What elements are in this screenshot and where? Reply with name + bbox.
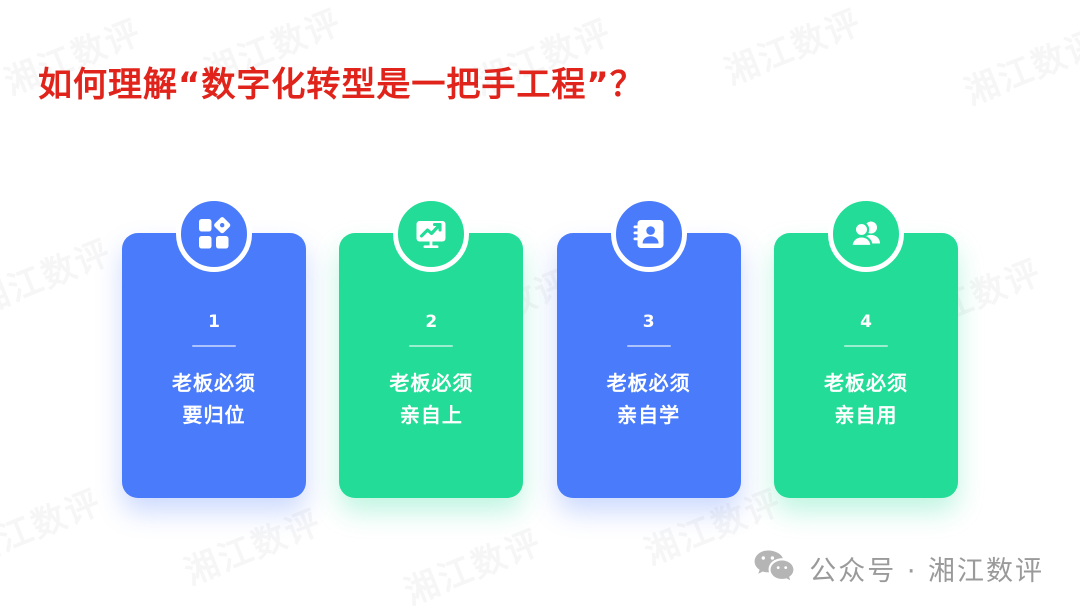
card-text-line1: 老板必须: [122, 367, 306, 399]
slide: 湘江数评 湘江数评 湘江数评 湘江数评 湘江数评 湘江数评 湘江数评 湘江数评 …: [0, 0, 1080, 608]
card-body: 3 老板必须 亲自学: [557, 314, 741, 432]
watermark-text: 湘江数评: [956, 15, 1080, 114]
card-divider: [627, 345, 671, 347]
card-4[interactable]: 4 老板必须 亲自用: [774, 196, 958, 498]
card-body: 1 老板必须 要归位: [122, 314, 306, 432]
card-body: 4 老板必须 亲自用: [774, 314, 958, 432]
monitor-chart-icon: [393, 196, 469, 272]
card-number: 3: [557, 314, 741, 331]
watermark-text: 湘江数评: [396, 515, 548, 608]
card-text-line2: 亲自学: [557, 399, 741, 431]
card-divider: [844, 345, 888, 347]
grid-diamond-icon: [176, 196, 252, 272]
footer: 公众号 · 湘江数评: [753, 548, 1044, 588]
users-group-icon: [828, 196, 904, 272]
cards-row: 1 老板必须 要归位 2: [122, 196, 958, 498]
wechat-icon: [753, 548, 795, 588]
card-number: 2: [339, 314, 523, 331]
card-text: 老板必须 亲自学: [557, 367, 741, 432]
watermark-text: 湘江数评: [0, 225, 118, 324]
footer-text: 公众号 · 湘江数评: [809, 549, 1044, 588]
card-body: 2 老板必须 亲自上: [339, 314, 523, 432]
card-text: 老板必须 亲自用: [774, 367, 958, 432]
watermark-text: 湘江数评: [176, 495, 328, 594]
card-text-line2: 亲自上: [339, 399, 523, 431]
card-text-line2: 要归位: [122, 399, 306, 431]
card-text-line1: 老板必须: [557, 367, 741, 399]
card-number: 4: [774, 314, 958, 331]
page-title: 如何理解“数字化转型是一把手工程”？: [38, 57, 645, 106]
card-divider: [409, 345, 453, 347]
card-2[interactable]: 2 老板必须 亲自上: [339, 196, 523, 498]
watermark-text: 湘江数评: [0, 475, 108, 574]
contact-book-icon: [611, 196, 687, 272]
card-text-line1: 老板必须: [339, 367, 523, 399]
card-text: 老板必须 要归位: [122, 367, 306, 432]
card-number: 1: [122, 314, 306, 331]
card-3[interactable]: 3 老板必须 亲自学: [557, 196, 741, 498]
card-1[interactable]: 1 老板必须 要归位: [122, 196, 306, 498]
watermark-text: 湘江数评: [716, 0, 868, 94]
card-text-line2: 亲自用: [774, 399, 958, 431]
card-text: 老板必须 亲自上: [339, 367, 523, 432]
card-text-line1: 老板必须: [774, 367, 958, 399]
card-divider: [192, 345, 236, 347]
